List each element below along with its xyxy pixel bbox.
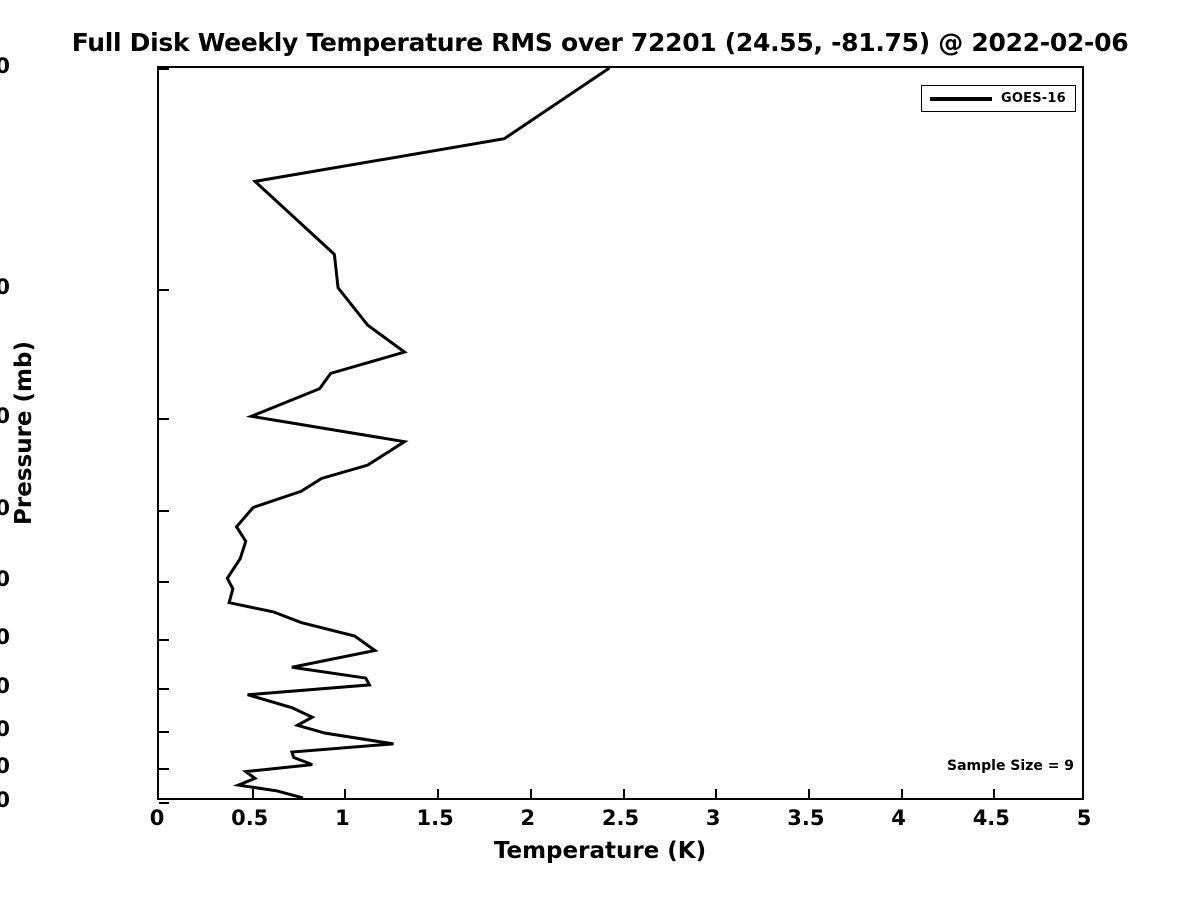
chart-figure: Full Disk Weekly Temperature RMS over 72… bbox=[0, 0, 1200, 900]
x-tick-label-2: 2 bbox=[520, 806, 535, 830]
x-tick-mark-2.5 bbox=[623, 789, 625, 798]
x-tick-label-3.5: 3.5 bbox=[787, 806, 824, 830]
y-tick-mark-500 bbox=[159, 581, 169, 583]
y-tick-label-400: 400 bbox=[0, 496, 10, 520]
series-line-goes-16 bbox=[227, 68, 609, 798]
legend: GOES-16 bbox=[921, 85, 1076, 112]
x-tick-mark-1.5 bbox=[437, 789, 439, 798]
y-tick-label-100: 100 bbox=[0, 54, 10, 78]
y-tick-mark-600 bbox=[159, 639, 169, 641]
x-tick-label-5: 5 bbox=[1077, 806, 1092, 830]
y-axis-label: Pressure (mb) bbox=[11, 341, 37, 525]
x-tick-mark-0.5 bbox=[252, 789, 254, 798]
x-tick-mark-3 bbox=[715, 789, 717, 798]
y-tick-label-900: 900 bbox=[0, 754, 10, 778]
y-tick-label-700: 700 bbox=[0, 674, 10, 698]
x-axis-label: Temperature (K) bbox=[0, 838, 1200, 864]
plot-area bbox=[157, 66, 1084, 800]
x-tick-mark-3.5 bbox=[808, 789, 810, 798]
legend-line-swatch bbox=[930, 97, 992, 101]
x-tick-mark-2 bbox=[530, 789, 532, 798]
x-tick-label-4.5: 4.5 bbox=[973, 806, 1010, 830]
y-tick-label-500: 500 bbox=[0, 567, 10, 591]
y-tick-mark-900 bbox=[159, 768, 169, 770]
x-tick-mark-1 bbox=[344, 789, 346, 798]
series-lines bbox=[227, 68, 609, 798]
y-tick-mark-200 bbox=[159, 289, 169, 291]
x-tick-label-1.5: 1.5 bbox=[416, 806, 453, 830]
x-tick-label-2.5: 2.5 bbox=[602, 806, 639, 830]
y-tick-mark-300 bbox=[159, 418, 169, 420]
x-tick-label-0: 0 bbox=[150, 806, 165, 830]
legend-label-goes-16: GOES-16 bbox=[1001, 91, 1066, 106]
x-tick-label-0.5: 0.5 bbox=[231, 806, 268, 830]
data-series-canvas bbox=[159, 68, 1082, 798]
x-tick-mark-4.5 bbox=[993, 789, 995, 798]
y-tick-label-800: 800 bbox=[0, 717, 10, 741]
x-tick-label-3: 3 bbox=[706, 806, 721, 830]
x-tick-label-1: 1 bbox=[335, 806, 350, 830]
y-tick-mark-1000 bbox=[159, 802, 169, 804]
sample-size-annotation: Sample Size = 9 bbox=[947, 758, 1074, 774]
x-tick-label-4: 4 bbox=[891, 806, 906, 830]
y-tick-mark-100 bbox=[159, 68, 169, 70]
chart-title: Full Disk Weekly Temperature RMS over 72… bbox=[0, 28, 1200, 57]
y-tick-label-1000: 1000 bbox=[0, 788, 10, 812]
y-tick-mark-700 bbox=[159, 688, 169, 690]
y-tick-mark-800 bbox=[159, 731, 169, 733]
y-tick-label-200: 200 bbox=[0, 275, 10, 299]
y-tick-label-600: 600 bbox=[0, 625, 10, 649]
x-tick-mark-4 bbox=[901, 789, 903, 798]
y-tick-label-300: 300 bbox=[0, 404, 10, 428]
y-tick-mark-400 bbox=[159, 510, 169, 512]
